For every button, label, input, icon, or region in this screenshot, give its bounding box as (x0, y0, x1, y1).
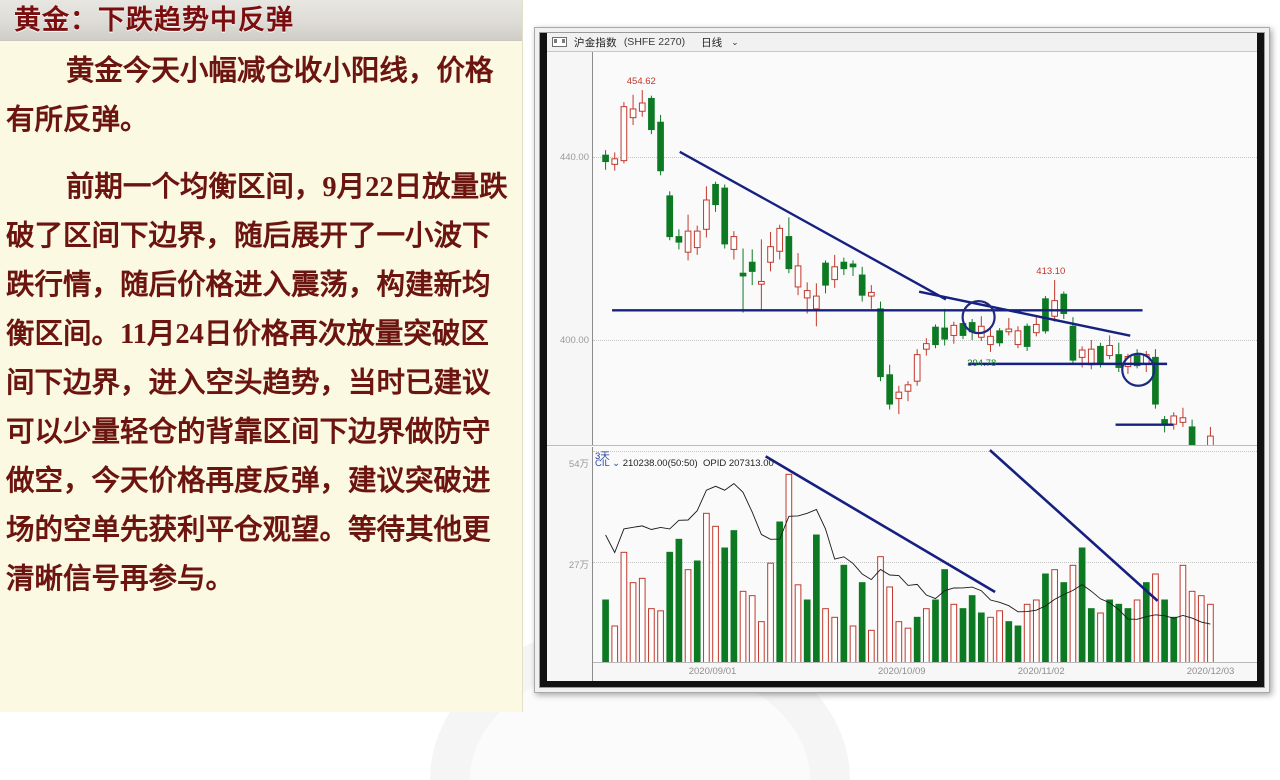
chevron-down-icon[interactable]: ⌄ (731, 37, 739, 48)
x-tick-3: 2020/12/03 (1187, 666, 1235, 677)
indicator-value: 210238.00(50:50) (623, 458, 698, 469)
chart-left-border (540, 33, 547, 687)
volume-bars (593, 447, 1257, 681)
price-panel[interactable]: 440.00 400.00 454.62 413.10 394.78 370.7… (547, 52, 1257, 446)
volume-panel[interactable]: 54万 27万 3天 CIL ⌄ 210238.00(50:50) OPID 2… (547, 447, 1257, 681)
x-tick-1: 2020/10/09 (878, 666, 926, 677)
opid-label: OPID (703, 458, 726, 469)
volume-axis: 54万 27万 (547, 447, 593, 681)
chart-window-icon (552, 37, 567, 47)
volume-tick-54: 54万 (569, 456, 589, 470)
price-tick-440: 440.00 (560, 152, 589, 163)
chart-toolbar[interactable]: 沪金指数 (SHFE 2270) 日线 ⌄ (547, 33, 1257, 52)
indicator-name[interactable]: CIL (595, 458, 609, 469)
price-tick-400: 400.00 (560, 335, 589, 346)
x-tick-2: 2020/11/02 (1018, 666, 1065, 677)
chart-right-border (1257, 33, 1264, 687)
price-axis: 440.00 400.00 (547, 52, 593, 445)
period-selector[interactable]: 日线 (701, 35, 722, 50)
volume-tick-27: 27万 (569, 557, 589, 571)
page-title: 黄金：下跌趋势中反弹 (0, 0, 522, 41)
chart-window-inner: 沪金指数 (SHFE 2270) 日线 ⌄ 440.00 400.00 454.… (539, 32, 1265, 688)
chart-window[interactable]: 沪金指数 (SHFE 2270) 日线 ⌄ 440.00 400.00 454.… (534, 27, 1270, 693)
indicator-readout[interactable]: CIL ⌄ 210238.00(50:50) OPID 207313.00 (595, 458, 774, 469)
price-candles (593, 52, 1257, 445)
commentary-paragraph-1: 黄金今天小幅减仓收小阳线，价格有所反弹。 (6, 47, 512, 145)
breakdown-level-label: 394.78 (967, 358, 996, 369)
volume-plot-area[interactable] (593, 447, 1257, 681)
x-axis: 2020/09/01 2020/10/09 2020/11/02 2020/12… (593, 662, 1257, 681)
symbol-code: (SHFE 2270) (624, 36, 685, 48)
commentary-body: 黄金今天小幅减仓收小阳线，价格有所反弹。 前期一个均衡区间，9月22日放量跌破了… (0, 41, 522, 604)
commentary-paragraph-2: 前期一个均衡区间，9月22日放量跌破了区间下边界，随后展开了一小波下跌行情，随后… (6, 163, 512, 604)
chevron-down-icon-indicator[interactable]: ⌄ (612, 458, 620, 469)
symbol-name[interactable]: 沪金指数 (574, 35, 617, 50)
secondary-high-label: 413.10 (1036, 266, 1065, 277)
x-tick-0: 2020/09/01 (689, 666, 737, 677)
chart-bottom-border (540, 681, 1264, 687)
swing-high-label: 454.62 (627, 76, 656, 87)
price-plot-area[interactable]: 454.62 413.10 394.78 370.70 (593, 52, 1257, 445)
opid-value: 207313.00 (729, 458, 774, 469)
commentary-panel: 黄金：下跌趋势中反弹 黄金今天小幅减仓收小阳线，价格有所反弹。 前期一个均衡区间… (0, 0, 523, 712)
